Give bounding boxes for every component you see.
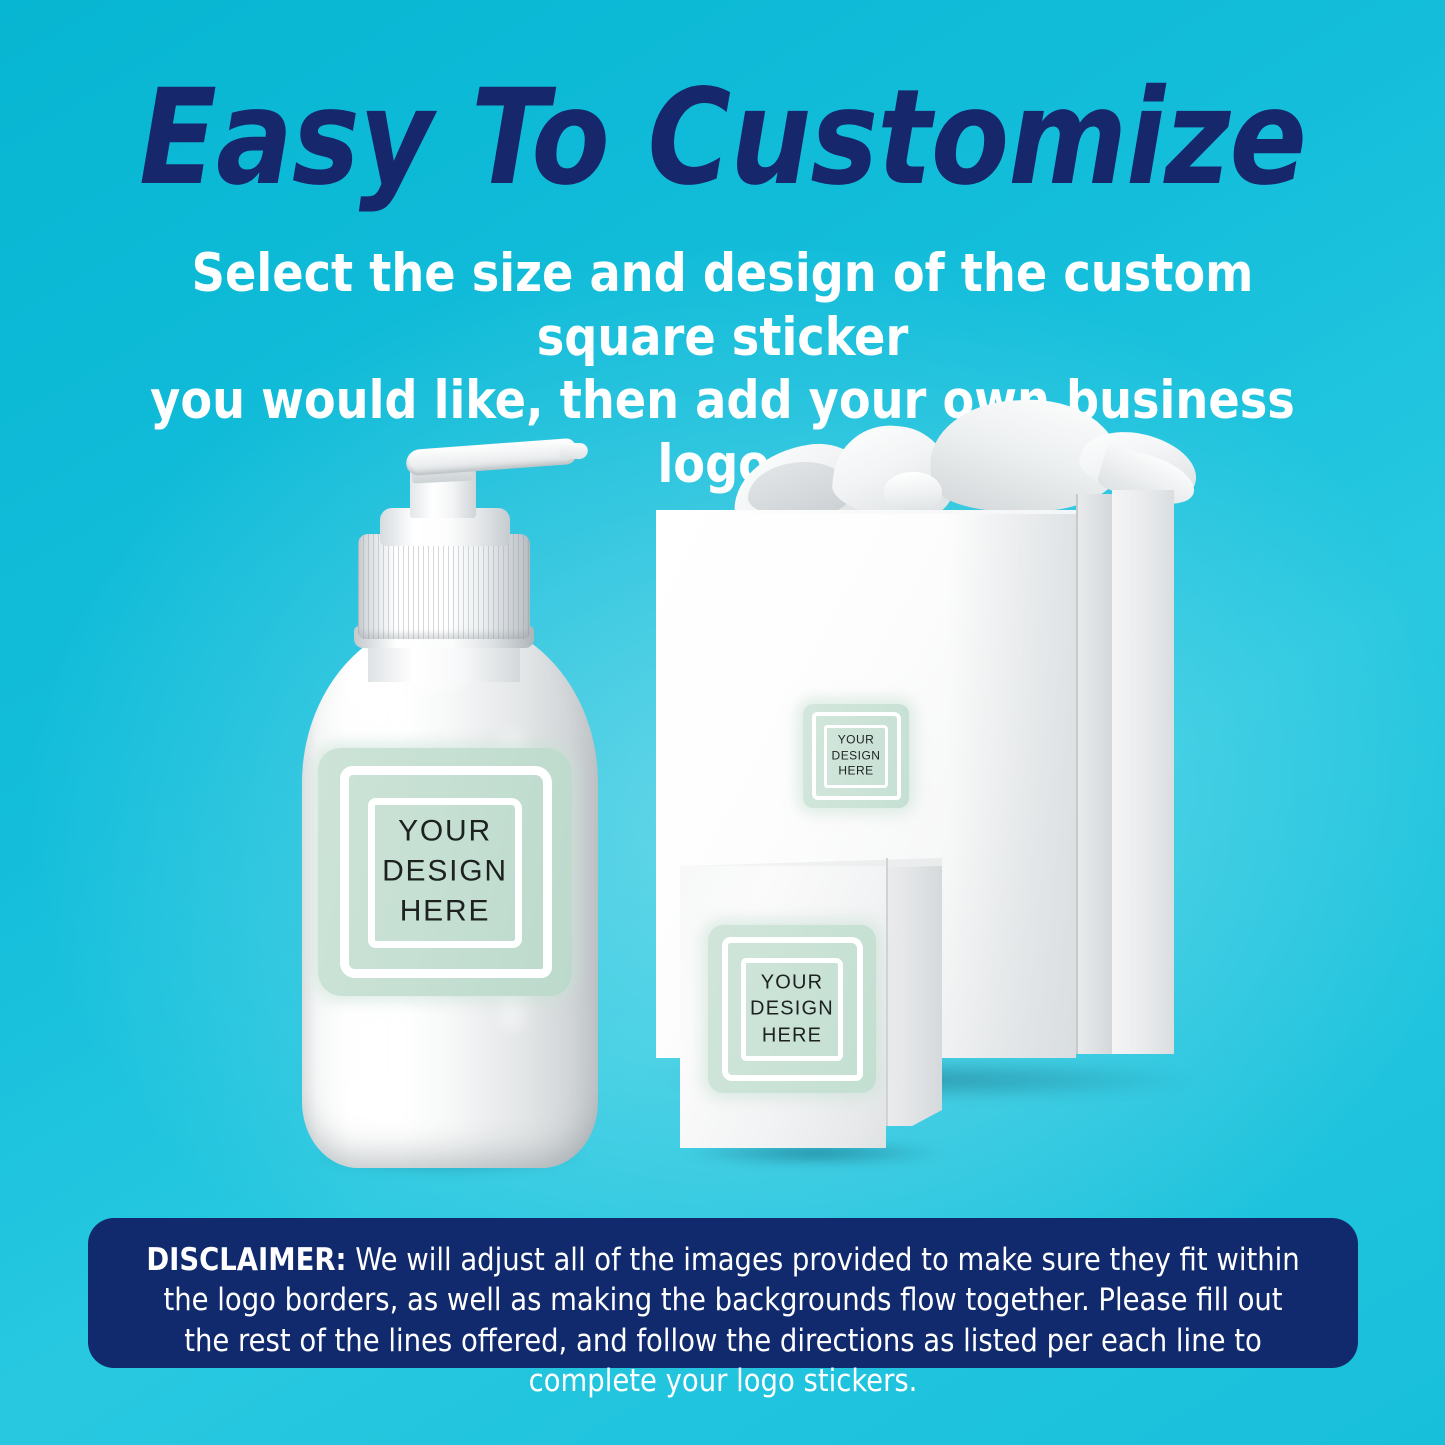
sticker-line-1: YOUR: [318, 812, 572, 852]
subtitle-line-1: Select the size and design of the custom…: [128, 242, 1316, 369]
gift-box-side-panel: [1076, 494, 1112, 1054]
bottle-neck: [368, 642, 520, 682]
sticker-line-2: DESIGN: [803, 748, 909, 764]
small-box-side-panel: [886, 858, 942, 1126]
promo-graphic: Easy To Customize Select the size and de…: [0, 0, 1445, 1445]
pump-ribbed-collar: [358, 534, 530, 639]
gift-box-lid-seam: [1076, 494, 1078, 1054]
sticker-placeholder-text: YOUR DESIGN HERE: [318, 812, 572, 933]
sticker-line-3: HERE: [708, 1022, 876, 1048]
gift-box-front-shading: [948, 514, 1076, 1058]
sticker-line-1: YOUR: [803, 733, 909, 749]
sticker-placeholder-text: YOUR DESIGN HERE: [708, 969, 876, 1048]
sticker-line-2: DESIGN: [708, 996, 876, 1022]
sticker-line-3: HERE: [318, 892, 572, 932]
sticker-placeholder-text: YOUR DESIGN HERE: [803, 733, 909, 780]
sticker-small-box: YOUR DESIGN HERE: [708, 925, 876, 1093]
sticker-line-1: YOUR: [708, 969, 876, 995]
page-title: Easy To Customize: [29, 72, 1416, 204]
sticker-gift-box: YOUR DESIGN HERE: [803, 704, 909, 808]
disclaimer-text: DISCLAIMER: We will adjust all of the im…: [141, 1240, 1305, 1401]
sticker-line-3: HERE: [803, 764, 909, 780]
disclaimer-banner: DISCLAIMER: We will adjust all of the im…: [88, 1218, 1358, 1368]
small-box-edge-seam: [886, 858, 888, 1126]
sticker-bottle-label: YOUR DESIGN HERE: [318, 748, 572, 996]
gift-box-back-panel: [1112, 490, 1174, 1054]
pump-nozzle-lever: [405, 438, 576, 476]
disclaimer-label: DISCLAIMER:: [146, 1242, 346, 1278]
sticker-line-2: DESIGN: [318, 852, 572, 892]
